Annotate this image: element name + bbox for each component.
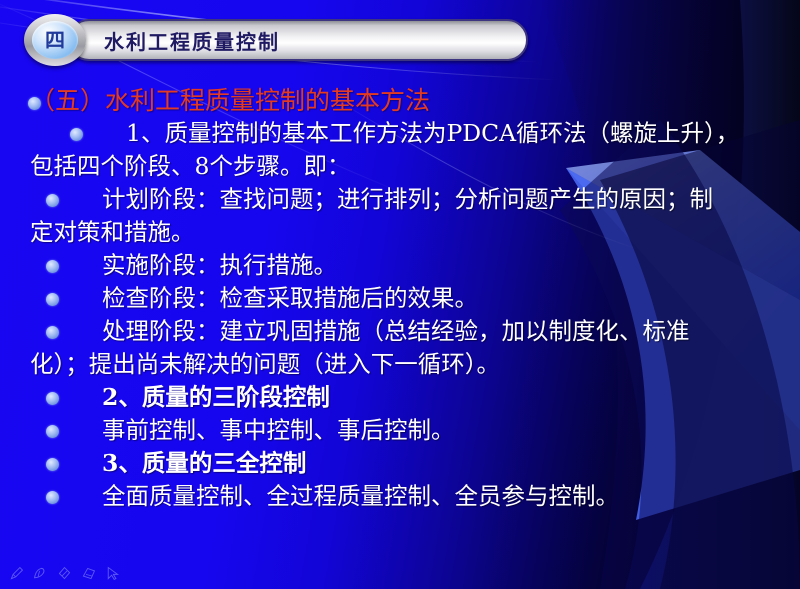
list-item: 事前控制、事中控制、事后控制。 — [0, 414, 800, 447]
list-item: 计划阶段：查找问题；进行排列；分析问题产生的原因；制 — [0, 183, 800, 216]
list-item-continuation: 包括四个阶段、8个步骤。即： — [0, 150, 800, 183]
bullet-icon — [46, 260, 59, 273]
list-item-text: 2、质量的三阶段控制 — [30, 381, 800, 414]
bullet-icon — [46, 458, 59, 471]
list-item-text: 全面质量控制、全过程质量控制、全员参与控制。 — [30, 480, 800, 513]
chapter-badge-inner: 四 — [32, 21, 78, 59]
title-banner: 水利工程质量控制 — [68, 19, 528, 61]
chapter-badge: 四 — [24, 14, 86, 66]
section-heading: （五）水利工程质量控制的基本方法 — [0, 84, 800, 117]
list-item-text: 3、质量的三全控制 — [30, 447, 800, 480]
list-item-text: 检查阶段：检查采取措施后的效果。 — [30, 282, 800, 315]
bullet-icon — [28, 97, 41, 110]
chapter-badge-label: 四 — [45, 30, 65, 50]
bullet-icon — [46, 392, 59, 405]
bullet-icon — [46, 194, 59, 207]
list-item: 2、质量的三阶段控制 — [0, 381, 800, 414]
list-item-text: 定对策和措施。 — [30, 216, 800, 249]
list-item-continuation: 定对策和措施。 — [0, 216, 800, 249]
slide-header: 水利工程质量控制 四 — [0, 14, 560, 66]
pencil-icon[interactable] — [32, 565, 49, 582]
list-item-text: 事前控制、事中控制、事后控制。 — [30, 414, 800, 447]
list-item-text: 1、质量控制的基本工作方法为PDCA循环法（螺旋上升）， — [30, 117, 800, 150]
arrow-icon[interactable] — [104, 565, 121, 582]
list-item-text: 计划阶段：查找问题；进行排列；分析问题产生的原因；制 — [30, 183, 800, 216]
bullet-icon — [46, 326, 59, 339]
list-item-text: 实施阶段：执行措施。 — [30, 249, 800, 282]
slide-body: （五）水利工程质量控制的基本方法 1、质量控制的基本工作方法为PDCA循环法（螺… — [0, 84, 800, 513]
list-item-continuation: 化）；提出尚未解决的问题（进入下一循环）。 — [0, 348, 800, 381]
list-item: 检查阶段：检查采取措施后的效果。 — [0, 282, 800, 315]
slideshow-ink-toolbar[interactable] — [8, 565, 121, 582]
bullet-icon — [46, 491, 59, 504]
list-item-text: 化）；提出尚未解决的问题（进入下一循环）。 — [30, 348, 800, 381]
section-heading-text: （五）水利工程质量控制的基本方法 — [30, 84, 800, 117]
eraser-icon[interactable] — [80, 565, 97, 582]
bullet-icon — [46, 293, 59, 306]
bullet-icon — [46, 425, 59, 438]
list-item-text: 处理阶段：建立巩固措施（总结经验，加以制度化、标准 — [30, 315, 800, 348]
page-title: 水利工程质量控制 — [104, 26, 280, 55]
marker-icon[interactable] — [56, 565, 73, 582]
list-item-text: 包括四个阶段、8个步骤。即： — [30, 150, 800, 183]
pen-icon[interactable] — [8, 565, 25, 582]
list-item: 3、质量的三全控制 — [0, 447, 800, 480]
list-item: 实施阶段：执行措施。 — [0, 249, 800, 282]
bullet-icon — [70, 128, 83, 141]
list-item: 处理阶段：建立巩固措施（总结经验，加以制度化、标准 — [0, 315, 800, 348]
list-item: 1、质量控制的基本工作方法为PDCA循环法（螺旋上升）， — [0, 117, 800, 150]
presentation-slide: 水利工程质量控制 四 （五）水利工程质量控制的基本方法 1、质量控制的基本工作方… — [0, 0, 800, 589]
list-item: 全面质量控制、全过程质量控制、全员参与控制。 — [0, 480, 800, 513]
